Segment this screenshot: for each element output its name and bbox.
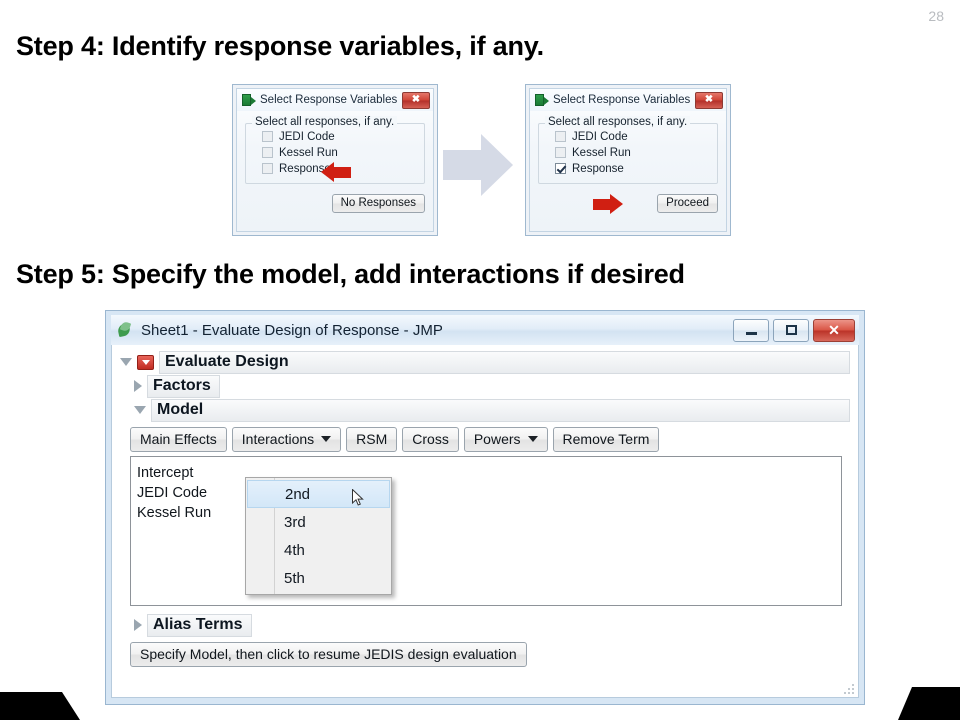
close-icon[interactable]: ✖ [402,92,430,109]
disclosure-triangle-open-icon[interactable] [120,358,132,366]
interactions-button[interactable]: Interactions [232,427,341,452]
checkbox-row-response[interactable]: Response [555,161,711,176]
ida-logo [0,692,80,720]
rsm-button[interactable]: RSM [346,427,397,452]
red-popup-menu-icon[interactable] [137,355,154,370]
button-label: Cross [412,431,449,447]
button-label: Main Effects [140,431,217,447]
jmp-application-window: Sheet1 - Evaluate Design of Response - J… [105,310,865,705]
red-callout-arrow-icon [321,162,351,182]
outline-title-factors: Factors [147,375,220,398]
checkbox-row-kessel-run[interactable]: Kessel Run [262,145,418,160]
outline-row-model[interactable]: Model [134,399,850,421]
main-effects-button[interactable]: Main Effects [130,427,227,452]
page-number-box [898,687,960,720]
groupbox-legend: Select all responses, if any. [545,116,690,128]
checkbox-icon[interactable] [555,131,566,142]
dialog-body: Select all responses, if any. JEDI Code … [237,111,433,219]
close-icon: ✕ [828,323,840,337]
outline-title-evaluate-design: Evaluate Design [159,351,850,374]
menu-item-label: 5th [284,570,305,587]
dialog-button-row: No Responses [245,193,425,213]
checkbox-label: JEDI Code [279,131,335,143]
page-number: 28 [928,8,944,24]
responses-groupbox: Select all responses, if any. JEDI Code … [538,123,718,184]
remove-term-button[interactable]: Remove Term [553,427,660,452]
checkbox-label: Kessel Run [572,147,631,159]
checkbox-icon-checked[interactable] [555,163,566,174]
button-label: Interactions [242,431,314,447]
outline-title-alias-terms: Alias Terms [147,614,252,637]
checkbox-icon[interactable] [262,147,273,158]
proceed-button[interactable]: Proceed [657,194,718,213]
jmp-response-icon [535,94,548,107]
interactions-dropdown-menu[interactable]: 2nd 3rd 4th 5th [245,477,392,595]
bottom-controls: Specify Model, then click to resume JEDI… [130,642,850,667]
dialog-inner: Select Response Variables ✖ Select all r… [236,88,434,232]
checkbox-icon[interactable] [555,147,566,158]
close-glyph: ✖ [412,95,420,105]
checkbox-label: Kessel Run [279,147,338,159]
select-response-variables-dialog-after: Select Response Variables ✖ Select all r… [525,84,731,236]
no-responses-button[interactable]: No Responses [332,194,425,213]
minimize-icon [746,332,757,335]
resume-evaluation-button[interactable]: Specify Model, then click to resume JEDI… [130,642,527,667]
responses-groupbox: Select all responses, if any. JEDI Code … [245,123,425,184]
dialog-title: Select Response Variables [553,94,695,106]
menu-item-label: 2nd [285,486,310,503]
checkbox-label: JEDI Code [572,131,628,143]
menu-item-label: 3rd [284,514,306,531]
mouse-cursor-icon [352,489,364,507]
ida-logo-text: IDA [5,4,40,25]
menu-item-2nd[interactable]: 2nd [247,480,390,508]
maximize-icon [786,325,797,335]
menu-item-4th[interactable]: 4th [246,536,391,564]
model-toolbar: Main Effects Interactions RSM Cross Powe… [130,427,850,452]
chevron-down-icon [528,436,538,442]
powers-button[interactable]: Powers [464,427,548,452]
groupbox-legend: Select all responses, if any. [252,116,397,128]
step4-heading: Step 4: Identify response variables, if … [16,31,544,62]
dialog-button-row: Proceed [538,193,718,213]
checkbox-row-jedi-code[interactable]: JEDI Code [555,129,711,144]
chevron-down-icon [321,436,331,442]
dialog-title: Select Response Variables [260,94,402,106]
menu-item-label: 4th [284,542,305,559]
dialog-titlebar: Select Response Variables ✖ [530,89,726,111]
outline-title-model: Model [151,399,850,422]
window-title: Sheet1 - Evaluate Design of Response - J… [141,322,733,339]
close-icon[interactable]: ✖ [695,92,723,109]
jmp-client-area: Evaluate Design Factors Model Main Effec… [111,345,859,698]
menu-item-5th[interactable]: 5th [246,564,391,592]
dialog-titlebar: Select Response Variables ✖ [237,89,433,111]
step5-heading: Step 5: Specify the model, add interacti… [16,259,685,290]
button-label: Powers [474,431,521,447]
disclosure-triangle-closed-icon[interactable] [134,619,142,631]
disclosure-triangle-closed-icon[interactable] [134,380,142,392]
checkbox-row-kessel-run[interactable]: Kessel Run [555,145,711,160]
checkbox-icon[interactable] [262,163,273,174]
checkbox-row-jedi-code[interactable]: JEDI Code [262,129,418,144]
cross-button[interactable]: Cross [402,427,459,452]
list-item[interactable]: Intercept [137,463,841,483]
outline-row-factors[interactable]: Factors [134,375,850,397]
model-terms-list[interactable]: Intercept JEDI Code Kessel Run [130,456,842,606]
close-button[interactable]: ✕ [813,319,855,342]
resize-grip[interactable] [842,682,854,694]
list-item[interactable]: JEDI Code [137,483,841,503]
jmp-titlebar[interactable]: Sheet1 - Evaluate Design of Response - J… [111,315,859,345]
list-item[interactable]: Kessel Run [137,503,841,523]
select-response-variables-dialog-before: Select Response Variables ✖ Select all r… [232,84,438,236]
outline-row-alias-terms[interactable]: Alias Terms [134,614,850,636]
transition-arrow-icon [443,134,515,196]
outline-row-evaluate-design[interactable]: Evaluate Design [120,351,850,373]
menu-item-3rd[interactable]: 3rd [246,508,391,536]
window-controls: ✕ [733,319,859,342]
button-label: RSM [356,431,387,447]
minimize-button[interactable] [733,319,769,342]
dialog-inner: Select Response Variables ✖ Select all r… [529,88,727,232]
checkbox-row-response[interactable]: Response [262,161,418,176]
red-callout-arrow-icon [593,194,623,214]
checkbox-label: Response [572,163,624,175]
checkbox-icon[interactable] [262,131,273,142]
maximize-button[interactable] [773,319,809,342]
jmp-app-icon [117,322,133,338]
dialog-body: Select all responses, if any. JEDI Code … [530,111,726,219]
disclosure-triangle-open-icon[interactable] [134,406,146,414]
jmp-response-icon [242,94,255,107]
button-label: Remove Term [563,431,650,447]
close-glyph: ✖ [705,95,713,105]
